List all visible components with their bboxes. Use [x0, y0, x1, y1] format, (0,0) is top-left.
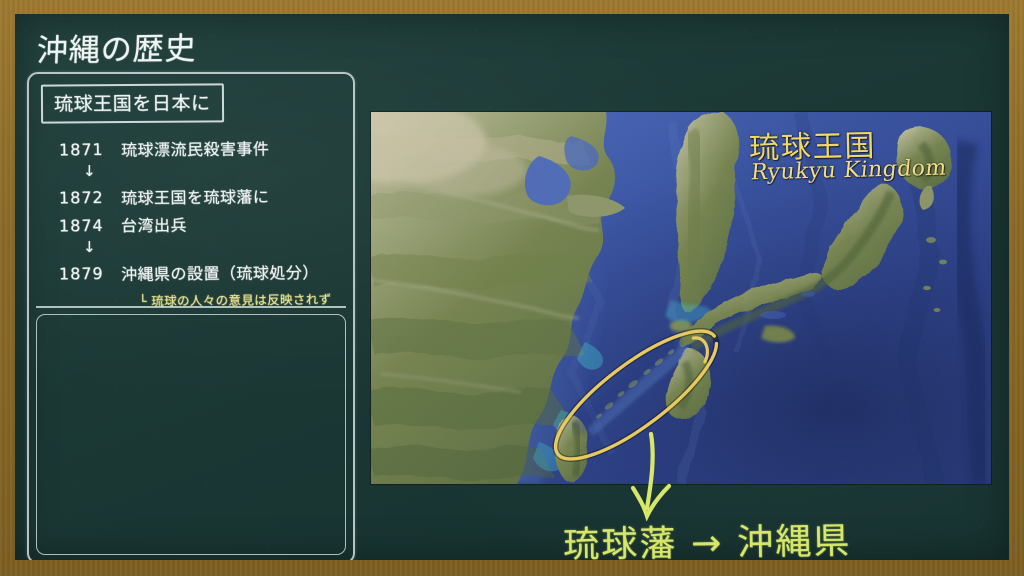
timeline-event: 琉球漂流民殺害事件 [121, 135, 270, 160]
timeline-arrow-icon: ↓ [59, 240, 344, 260]
panel-divider [36, 306, 346, 308]
timeline-list: 1871 琉球漂流民殺害事件 ↓ 1872 琉球王国を琉球藩に 1874 台湾出… [59, 136, 344, 309]
map-label-ryukyu-kingdom-en: Ryukyu Kingdom [750, 156, 948, 186]
timeline-year: 1879 [59, 264, 121, 284]
timeline-year: 1874 [59, 216, 121, 236]
timeline-event: 台湾出兵 [121, 212, 187, 237]
timeline-row: 1872 琉球王国を琉球藩に [59, 184, 344, 212]
section-heading-box: 琉球王国を日本に [41, 83, 224, 123]
left-panel-top-section: 琉球王国を日本に 1871 琉球漂流民殺害事件 ↓ 1872 琉球王国を琉球藩に… [29, 74, 353, 302]
timeline-arrow-icon: ↓ [59, 164, 344, 184]
slide-root: 沖縄の歴史 琉球王国を日本に 1871 琉球漂流民殺害事件 ↓ 1872 琉球王… [0, 0, 1024, 576]
timeline-row: 1879 沖縄県の設置（琉球処分） [59, 260, 344, 288]
timeline-row: 1871 琉球漂流民殺害事件 [59, 136, 344, 164]
page-title: 沖縄の歴史 [36, 23, 197, 70]
timeline-year: 1872 [59, 188, 121, 208]
left-panel: 琉球王国を日本に 1871 琉球漂流民殺害事件 ↓ 1872 琉球王国を琉球藩に… [27, 72, 355, 560]
chalkboard: 沖縄の歴史 琉球王国を日本に 1871 琉球漂流民殺害事件 ↓ 1872 琉球王… [15, 14, 1009, 560]
timeline-year: 1871 [59, 140, 121, 160]
timeline-event: 沖縄県の設置（琉球処分） [121, 259, 319, 285]
conclusion-text: 琉球藩 → 沖縄県 [563, 512, 852, 560]
timeline-row: 1874 台湾出兵 [59, 212, 344, 240]
left-panel-empty-box [36, 314, 346, 555]
timeline-event: 琉球王国を琉球藩に [121, 183, 270, 208]
satellite-map: 琉球王国 Ryukyu Kingdom [371, 112, 991, 484]
